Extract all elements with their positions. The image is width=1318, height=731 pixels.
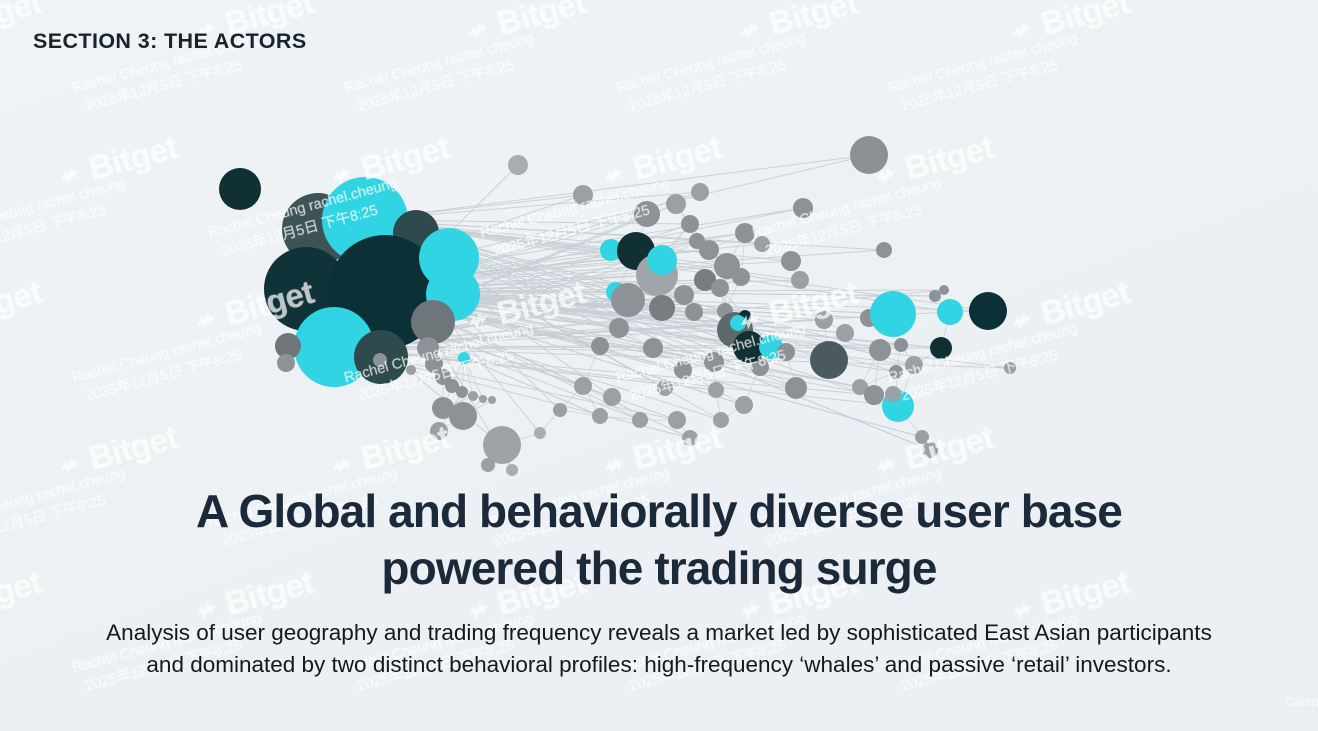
graph-node bbox=[603, 388, 621, 406]
graph-node bbox=[553, 403, 567, 417]
graph-node bbox=[682, 430, 698, 446]
bitget-wordmark: Bitget bbox=[1037, 0, 1134, 43]
graph-node bbox=[534, 427, 546, 439]
graph-node bbox=[666, 194, 686, 214]
graph-node bbox=[791, 271, 809, 289]
watermark-user-name: Rachel Cheung rachel.cheung bbox=[887, 30, 1080, 96]
graph-node bbox=[481, 458, 495, 472]
graph-node bbox=[632, 412, 648, 428]
graph-node bbox=[468, 391, 478, 401]
graph-node bbox=[591, 337, 609, 355]
graph-node bbox=[735, 223, 755, 243]
subhead-block: Analysis of user geography and trading f… bbox=[0, 617, 1318, 681]
bitget-logo-icon bbox=[1005, 13, 1038, 46]
bitget-logo-icon bbox=[733, 13, 766, 46]
graph-node bbox=[939, 285, 949, 295]
graph-node bbox=[732, 268, 750, 286]
graph-node bbox=[458, 352, 470, 364]
page-title: A Global and behaviorally diverse user b… bbox=[60, 483, 1258, 596]
graph-node bbox=[704, 352, 724, 372]
graph-node bbox=[219, 168, 261, 210]
headline-line-2: powered the trading surge bbox=[60, 540, 1258, 597]
graph-node bbox=[711, 279, 729, 297]
graph-node bbox=[649, 295, 675, 321]
graph-node bbox=[574, 377, 592, 395]
graph-node bbox=[937, 299, 963, 325]
graph-node bbox=[609, 318, 629, 338]
graph-node bbox=[674, 361, 692, 379]
graph-node bbox=[479, 395, 487, 403]
graph-node bbox=[657, 380, 673, 396]
graph-node bbox=[815, 311, 833, 329]
graph-node bbox=[277, 354, 295, 372]
graph-node bbox=[411, 300, 455, 344]
graph-node bbox=[810, 341, 848, 379]
graph-node bbox=[674, 285, 694, 305]
graph-node bbox=[894, 338, 908, 352]
graph-node bbox=[708, 382, 724, 398]
graph-node bbox=[735, 396, 753, 414]
graph-node bbox=[611, 283, 645, 317]
graph-node bbox=[793, 198, 813, 218]
bitget-wordmark: Bitget bbox=[493, 0, 590, 43]
watermark-timestamp: 2025年12月5日 下午8:25 bbox=[75, 49, 269, 120]
user-watermark: Rachel Cheung rachel.cheung2025年12月5日 下午… bbox=[886, 29, 1085, 120]
graph-node bbox=[430, 422, 448, 440]
watermark-timestamp: 2025年12月5日 下午8:25 bbox=[347, 49, 541, 120]
watermark-timestamp: 2025年12月5日 下午8:25 bbox=[619, 49, 813, 120]
graph-node bbox=[754, 236, 770, 252]
network-graph-svg bbox=[0, 120, 1318, 490]
graph-node bbox=[922, 442, 938, 458]
user-watermark: Rachel Cheung rachel.cheung2025年12月5日 下午… bbox=[614, 29, 813, 120]
graph-node bbox=[1004, 362, 1016, 374]
graph-node bbox=[777, 343, 795, 361]
user-watermark: Rachel Cheung rachel.cheung2025年12月5日 下午… bbox=[342, 29, 541, 120]
headline-line-1: A Global and behaviorally diverse user b… bbox=[196, 485, 1122, 537]
graph-node bbox=[713, 412, 729, 428]
graph-node bbox=[885, 386, 901, 402]
graph-node bbox=[573, 185, 593, 205]
graph-node bbox=[869, 339, 891, 361]
graph-node bbox=[889, 365, 903, 379]
graph-node bbox=[864, 385, 884, 405]
graph-node bbox=[406, 365, 416, 375]
graph-node bbox=[929, 290, 941, 302]
graph-node bbox=[506, 464, 518, 476]
graph-node bbox=[836, 324, 854, 342]
bitget-watermark: Bitget bbox=[460, 0, 590, 52]
graph-node bbox=[905, 356, 923, 374]
bitget-watermark: Bitget bbox=[1004, 0, 1134, 52]
subhead-line-1: Analysis of user geography and trading f… bbox=[106, 620, 1029, 645]
graph-node bbox=[456, 386, 468, 398]
graph-node bbox=[930, 337, 952, 359]
graph-node bbox=[969, 292, 1007, 330]
graph-node bbox=[850, 136, 888, 174]
graph-node bbox=[915, 430, 929, 444]
slide-canvas: BitgetRachel Cheung rachel.cheung2025年12… bbox=[0, 0, 1318, 731]
bitget-wordmark: Bitget bbox=[765, 0, 862, 43]
graph-node bbox=[449, 402, 477, 430]
graph-node bbox=[643, 338, 663, 358]
graph-node bbox=[876, 242, 892, 258]
bitget-logo-icon bbox=[461, 13, 494, 46]
bitget-watermark: Bitget bbox=[732, 0, 862, 52]
subhead-line-3: and passive ‘retail’ investors. bbox=[885, 652, 1172, 677]
graph-node bbox=[668, 411, 686, 429]
graph-node bbox=[488, 396, 496, 404]
watermark-user-name: Rachel Cheung rachel.cheung bbox=[615, 30, 808, 96]
page-subtitle: Analysis of user geography and trading f… bbox=[90, 617, 1228, 681]
graph-node bbox=[373, 353, 387, 367]
graph-node bbox=[730, 315, 746, 331]
corner-watermark-note: Calend bbox=[1285, 694, 1318, 709]
graph-node bbox=[647, 245, 677, 275]
watermark-user-name: Rachel Cheung rachel.cheung bbox=[343, 30, 536, 96]
graph-node bbox=[691, 183, 709, 201]
graph-node bbox=[681, 215, 699, 233]
watermark-timestamp: 2025年12月5日 下午8:25 bbox=[891, 49, 1085, 120]
graph-node bbox=[592, 408, 608, 424]
graph-node bbox=[634, 201, 660, 227]
graph-node bbox=[870, 291, 916, 337]
section-label: SECTION 3: THE ACTORS bbox=[33, 29, 307, 54]
graph-node bbox=[781, 251, 801, 271]
graph-node bbox=[785, 377, 807, 399]
headline-block: A Global and behaviorally diverse user b… bbox=[0, 483, 1318, 596]
network-graph bbox=[0, 120, 1318, 490]
graph-node bbox=[699, 240, 719, 260]
graph-node bbox=[685, 303, 703, 321]
graph-node bbox=[508, 155, 528, 175]
